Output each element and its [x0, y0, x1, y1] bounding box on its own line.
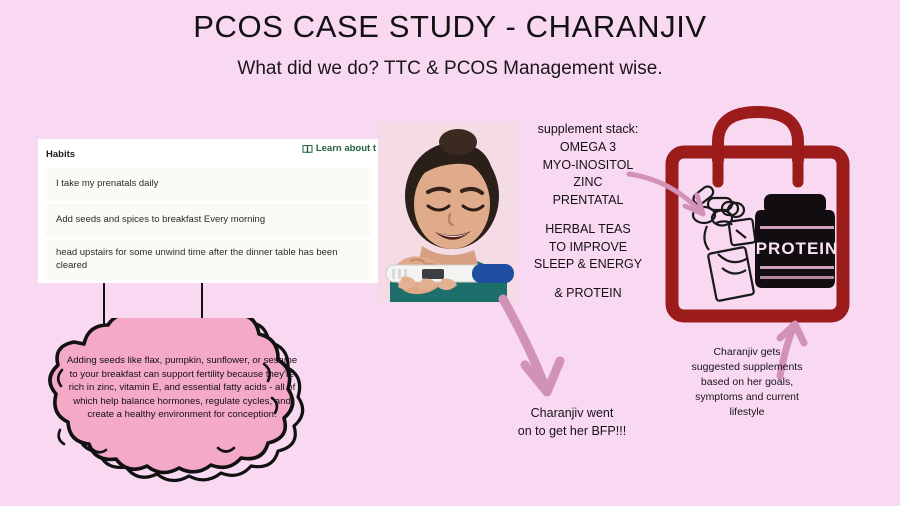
habit-row[interactable]: Add seeds and spices to breakfast Every …	[44, 204, 372, 237]
learn-about-link[interactable]: Learn about t	[302, 143, 376, 154]
supplement-explainer-caption: Charanjiv gets suggested supplements bas…	[688, 345, 806, 420]
photo-woman-pregnancy-test	[380, 122, 517, 302]
bfp-caption: Charanjiv went on to get her BFP!!!	[497, 404, 647, 440]
arrow-to-bfp-icon	[495, 293, 585, 403]
habits-card-header: Habits Learn about t	[38, 139, 378, 165]
cloud-text: Adding seeds like flax, pumpkin, sunflow…	[66, 354, 298, 422]
learn-about-label: Learn about t	[316, 143, 376, 154]
page-title: PCOS CASE STUDY - CHARANJIV	[0, 9, 900, 45]
poster-canvas: PCOS CASE STUDY - CHARANJIV What did we …	[0, 0, 900, 506]
habits-title: Habits	[46, 149, 75, 160]
habit-row[interactable]: head upstairs for some unwind time after…	[44, 240, 372, 280]
cloud-callout: Adding seeds like flax, pumpkin, sunflow…	[22, 318, 342, 483]
open-book-icon	[302, 144, 313, 154]
supplement-heading: supplement stack:	[513, 121, 663, 139]
arrow-to-bag-icon	[625, 160, 720, 230]
protein-tub-label: PROTEIN	[756, 239, 839, 258]
habit-row[interactable]: I take my prenatals daily	[44, 168, 372, 201]
habits-card: Habits Learn about t I take my prenatals…	[38, 139, 378, 283]
page-subtitle: What did we do? TTC & PCOS Management wi…	[0, 58, 900, 80]
